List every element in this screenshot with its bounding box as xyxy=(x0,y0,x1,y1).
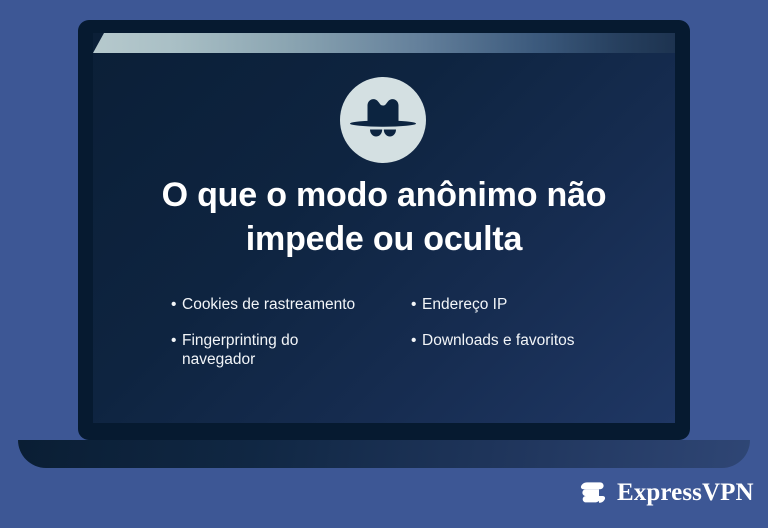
list-item: • Cookies de rastreamento xyxy=(171,295,371,314)
headline-line-1: O que o modo anônimo não xyxy=(119,173,649,217)
bullet-dot-icon: • xyxy=(171,295,182,314)
brand-name: ExpressVPN xyxy=(617,480,754,505)
bullet-dot-icon: • xyxy=(171,331,182,350)
laptop-base xyxy=(18,440,750,468)
list-item: • Endereço IP xyxy=(411,295,611,314)
bullet-dot-icon: • xyxy=(411,331,422,350)
incognito-hat-glasses-icon xyxy=(340,77,426,163)
bullet-label: Downloads e favoritos xyxy=(422,331,611,350)
laptop-screen: O que o modo anônimo não impede ou ocult… xyxy=(93,33,675,423)
expressvpn-logo-icon xyxy=(578,477,608,507)
bullet-label: Cookies de rastreamento xyxy=(182,295,371,314)
slide-content: O que o modo anônimo não impede ou ocult… xyxy=(93,33,675,423)
expressvpn-brand: ExpressVPN xyxy=(578,477,754,507)
list-item: • Downloads e favoritos xyxy=(411,331,611,350)
slide-canvas: O que o modo anônimo não impede ou ocult… xyxy=(0,0,768,528)
bullet-label: Endereço IP xyxy=(422,295,611,314)
list-item: • Fingerprinting do navegador xyxy=(171,331,371,369)
slide-headline: O que o modo anônimo não impede ou ocult… xyxy=(119,173,649,261)
bullet-column-left: • Cookies de rastreamento • Fingerprinti… xyxy=(171,295,371,386)
bullet-column-right: • Endereço IP • Downloads e favoritos xyxy=(411,295,611,386)
bullet-list: • Cookies de rastreamento • Fingerprinti… xyxy=(171,295,611,386)
bullet-label: Fingerprinting do navegador xyxy=(182,331,371,369)
headline-line-2: impede ou oculta xyxy=(119,217,649,261)
bullet-dot-icon: • xyxy=(411,295,422,314)
